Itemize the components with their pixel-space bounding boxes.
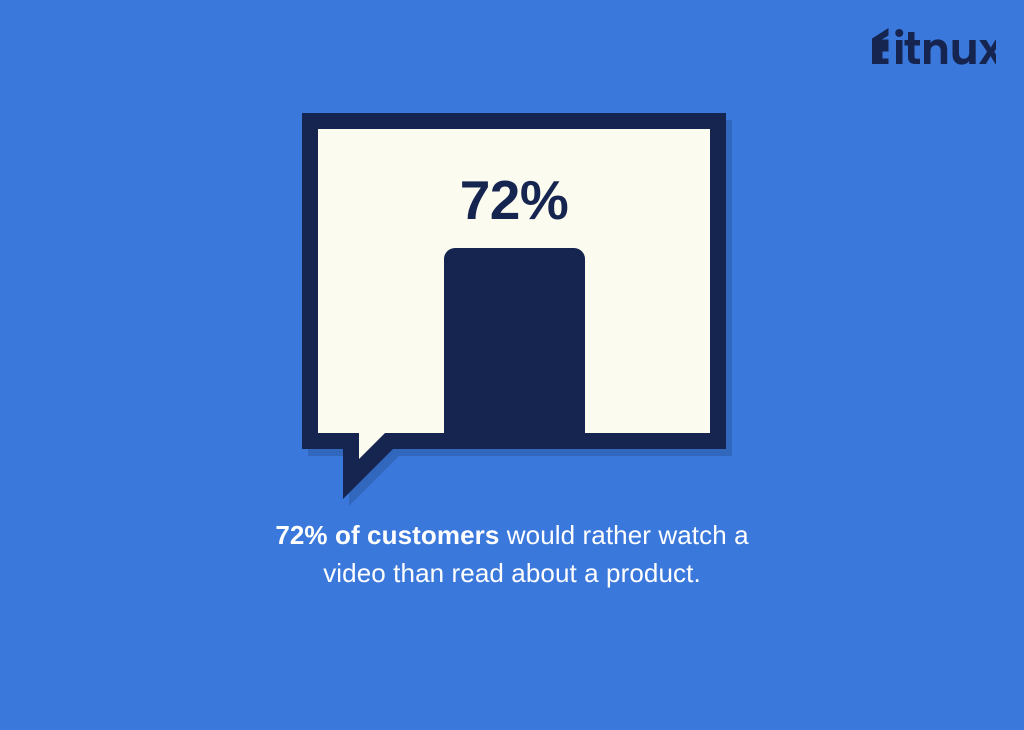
gitnux-wordmark-logo-icon	[866, 26, 996, 66]
caption-line-2: video than read about a product.	[0, 554, 1024, 592]
bar-72-percent	[444, 248, 585, 449]
bar-value-label: 72%	[296, 173, 732, 228]
brand-logo	[866, 24, 996, 68]
caption-lead: 72% of customers	[275, 520, 499, 550]
caption-line-1: 72% of customers would rather watch a	[0, 516, 1024, 554]
speech-bubble-chart: 72%	[296, 107, 732, 507]
caption: 72% of customers would rather watch a vi…	[0, 516, 1024, 592]
caption-rest: would rather watch a	[499, 520, 748, 550]
